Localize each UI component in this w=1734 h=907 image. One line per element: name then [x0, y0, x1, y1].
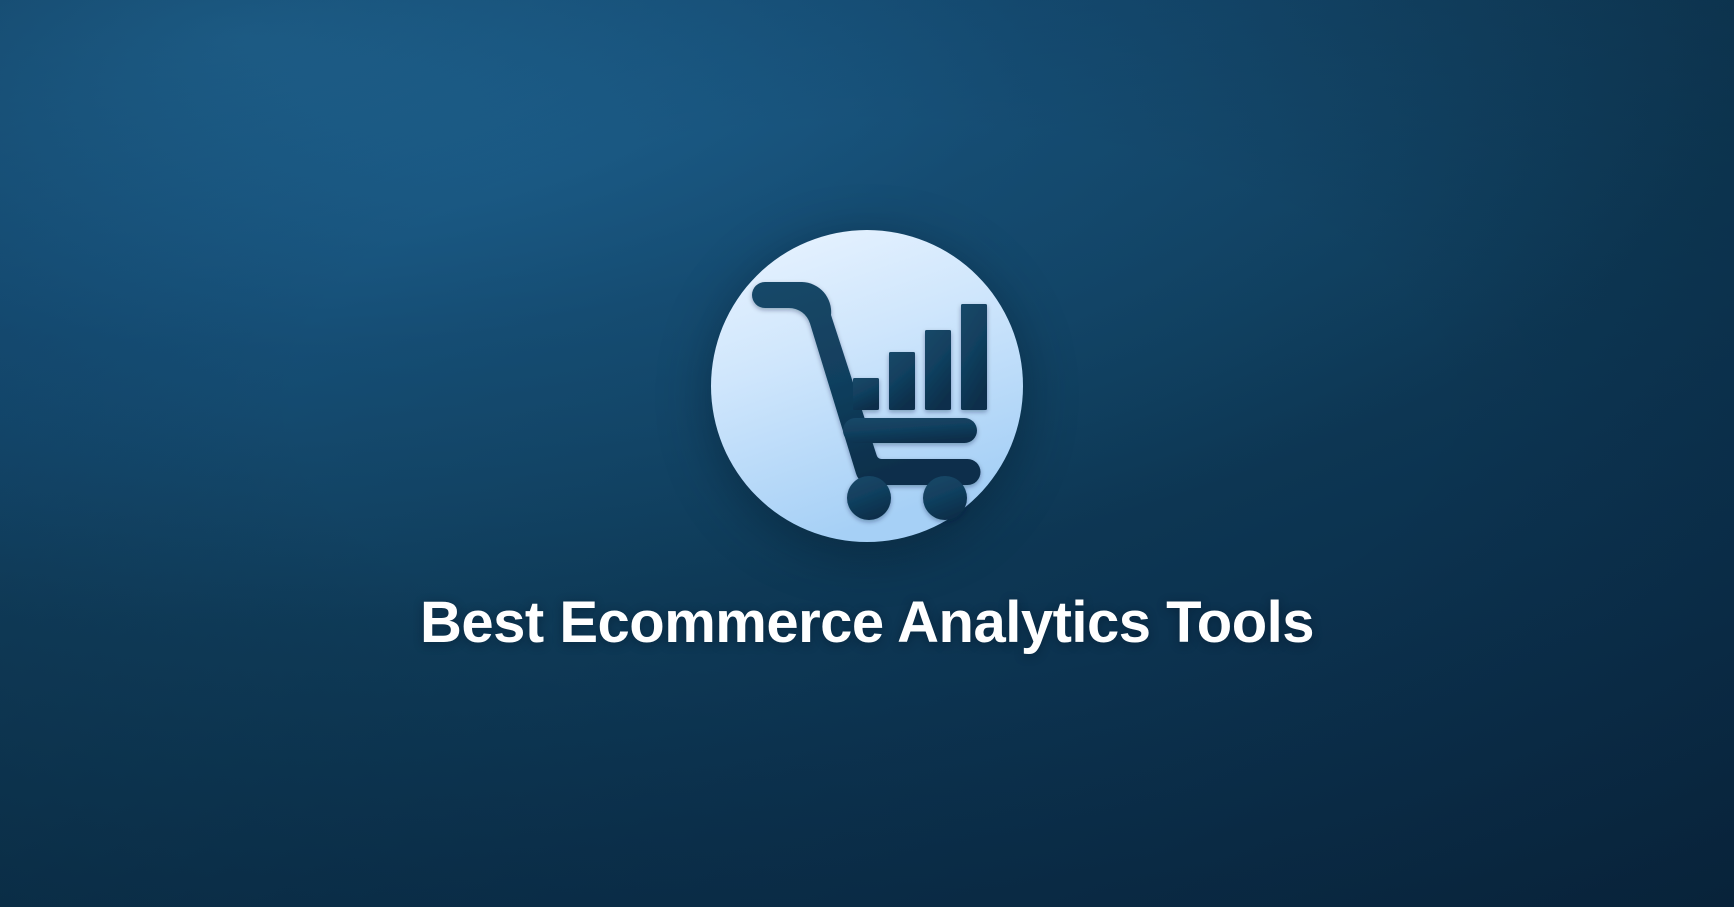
cart-wheel-left	[847, 476, 891, 520]
bar-2	[889, 352, 915, 410]
banner-canvas: Best Ecommerce Analytics Tools	[0, 0, 1734, 907]
bar-3	[925, 330, 951, 410]
bar-4	[961, 304, 987, 410]
shopping-cart-analytics-icon	[707, 226, 1027, 546]
bar-1	[853, 378, 879, 410]
cart-bar-upper	[843, 418, 977, 443]
cart-wheel-right	[923, 476, 967, 520]
page-title: Best Ecommerce Analytics Tools	[420, 592, 1314, 655]
banner-content: Best Ecommerce Analytics Tools	[0, 0, 1734, 907]
